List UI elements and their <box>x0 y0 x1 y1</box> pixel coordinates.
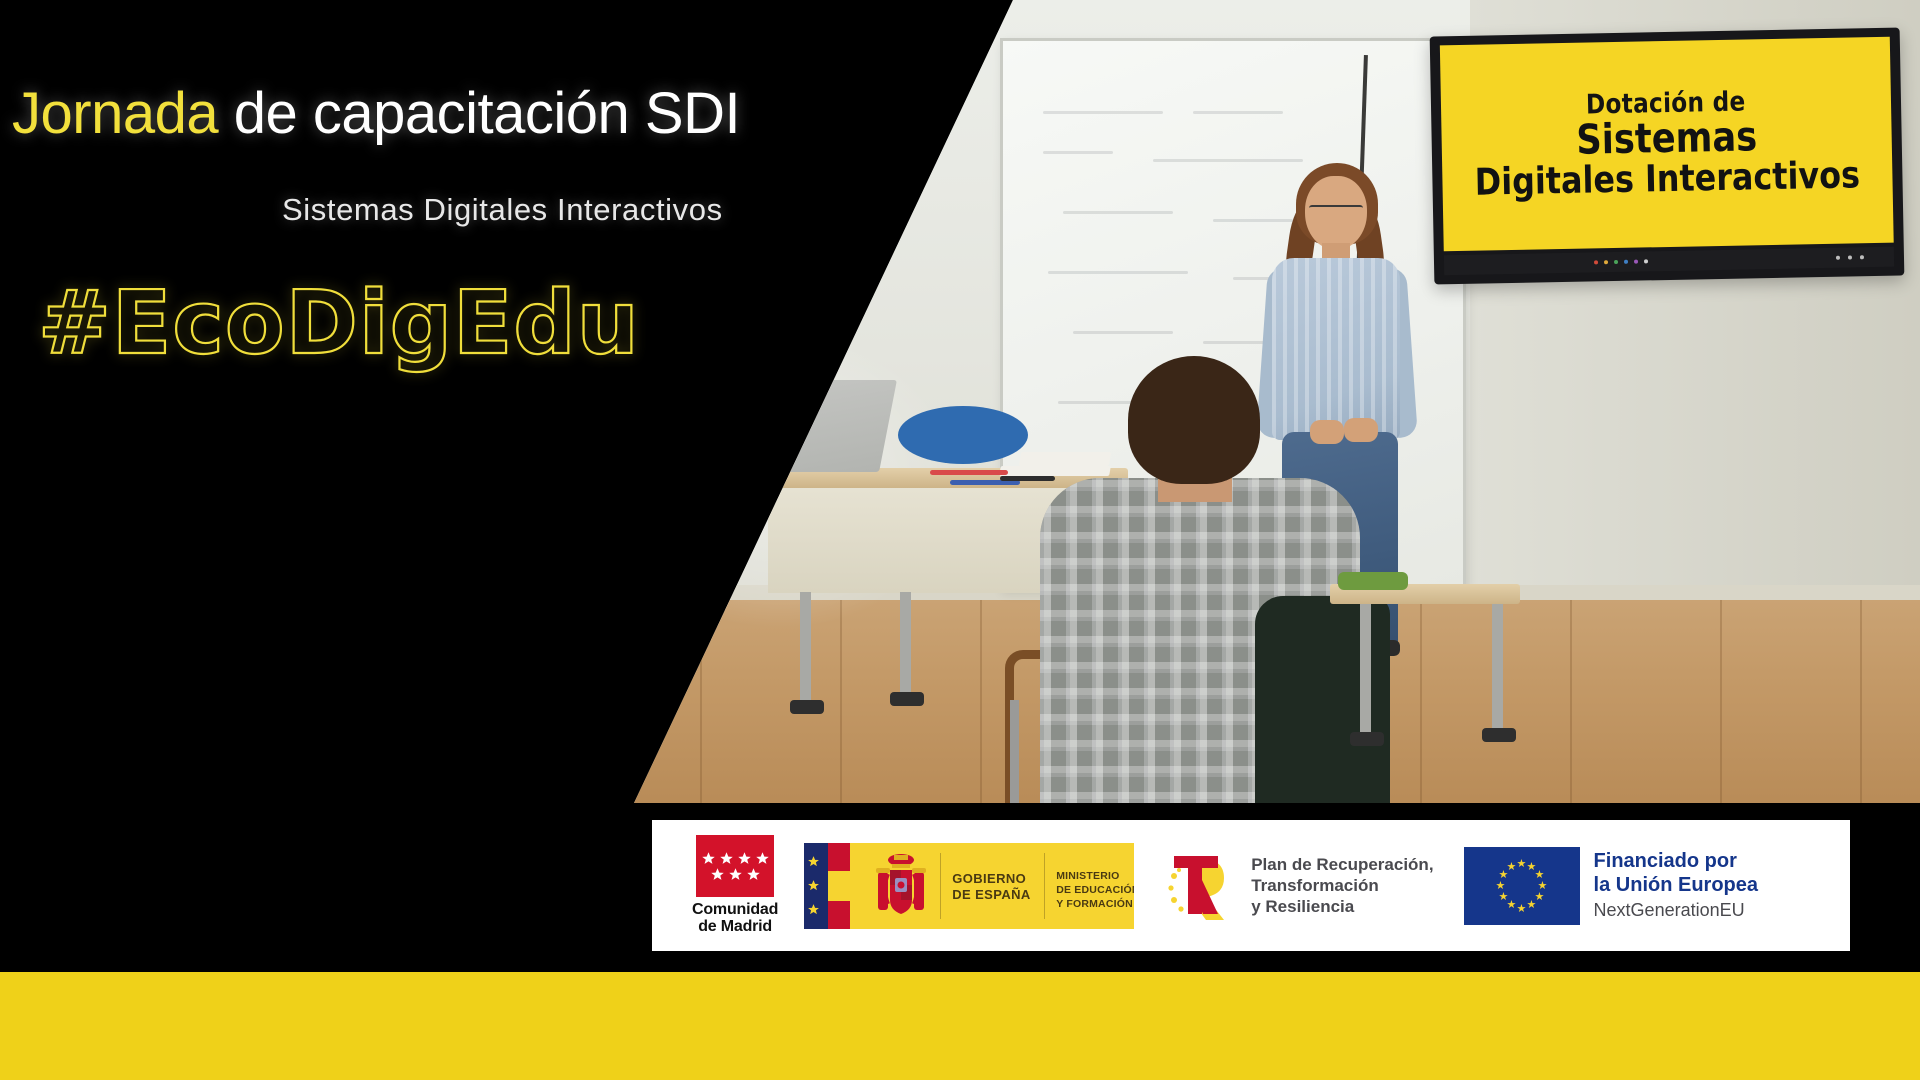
star-icon <box>710 867 725 882</box>
floor <box>0 600 1920 803</box>
display-screen: Dotación de Sistemas Digitales Interacti… <box>1440 37 1894 252</box>
interactive-display: Dotación de Sistemas Digitales Interacti… <box>1430 28 1905 285</box>
star-icon <box>701 851 716 866</box>
eu-line2: la Unión Europea <box>1594 873 1758 897</box>
ministerio-line3: Y FORMACIÓN PROFESIONAL <box>1056 897 1134 911</box>
display-bezel-bar <box>1444 247 1894 276</box>
gobierno-line1: GOBIERNO <box>952 871 1030 887</box>
title-highlight: Jornada <box>12 81 218 146</box>
logo-comunidad-de-madrid: Comunidad de Madrid <box>652 820 778 951</box>
title-rest: de capacitación SDI <box>218 81 740 146</box>
green-object <box>1338 572 1408 590</box>
star-icon <box>728 867 743 882</box>
ministerio-line2: DE EDUCACIÓN <box>1056 883 1134 897</box>
page-subtitle: Sistemas Digitales Interactivos <box>282 192 723 228</box>
sponsor-logo-bar: Comunidad de Madrid <box>652 820 1850 951</box>
gobierno-line2: DE ESPAÑA <box>952 887 1030 903</box>
prtr-line2: Transformación <box>1251 875 1433 896</box>
glasses-icon <box>1309 205 1363 219</box>
star-icon <box>807 855 820 868</box>
prtr-line1: Plan de Recuperación, <box>1251 854 1433 875</box>
spain-flag-icon <box>804 843 850 929</box>
star-icon <box>807 903 820 916</box>
page-title: Jornada de capacitación SDI <box>12 80 740 147</box>
eu-flag-icon: ★ ★ ★ ★ ★ ★ ★ ★ ★ ★ ★ ★ <box>1464 847 1580 925</box>
ministerio-line1: MINISTERIO <box>1056 869 1134 883</box>
star-icon <box>807 879 820 892</box>
laptop <box>769 380 897 472</box>
hashtag-label: #EcoDigEdu <box>38 272 640 374</box>
spain-coat-of-arms-icon <box>870 852 932 920</box>
logo-financiado-union-europea: ★ ★ ★ ★ ★ ★ ★ ★ ★ ★ ★ ★ Financiado por l… <box>1464 820 1758 951</box>
logo-plan-de-recuperacion: Plan de Recuperación, Transformación y R… <box>1168 820 1433 951</box>
sign-line-3: Digitales Interactivos <box>1475 157 1861 202</box>
star-icon <box>719 851 734 866</box>
star-icon <box>737 851 752 866</box>
madrid-label-line2: de Madrid <box>692 919 778 936</box>
prtr-mark-icon <box>1168 850 1242 922</box>
logo-gobierno-de-espana: GOBIERNO DE ESPAÑA MINISTERIO DE EDUCACI… <box>778 820 1134 951</box>
star-icon <box>746 867 761 882</box>
madrid-flag-icon <box>696 835 774 897</box>
eu-line3: NextGenerationEU <box>1594 899 1758 922</box>
presentation-slide: Dotación de Sistemas Digitales Interacti… <box>0 0 1920 1080</box>
blue-chair <box>898 406 1028 464</box>
madrid-label-line1: Comunidad <box>692 902 778 919</box>
eu-line1: Financiado por <box>1594 849 1758 873</box>
star-icon <box>755 851 770 866</box>
bottom-yellow-band <box>0 972 1920 1080</box>
prtr-line3: y Resiliencia <box>1251 896 1433 917</box>
